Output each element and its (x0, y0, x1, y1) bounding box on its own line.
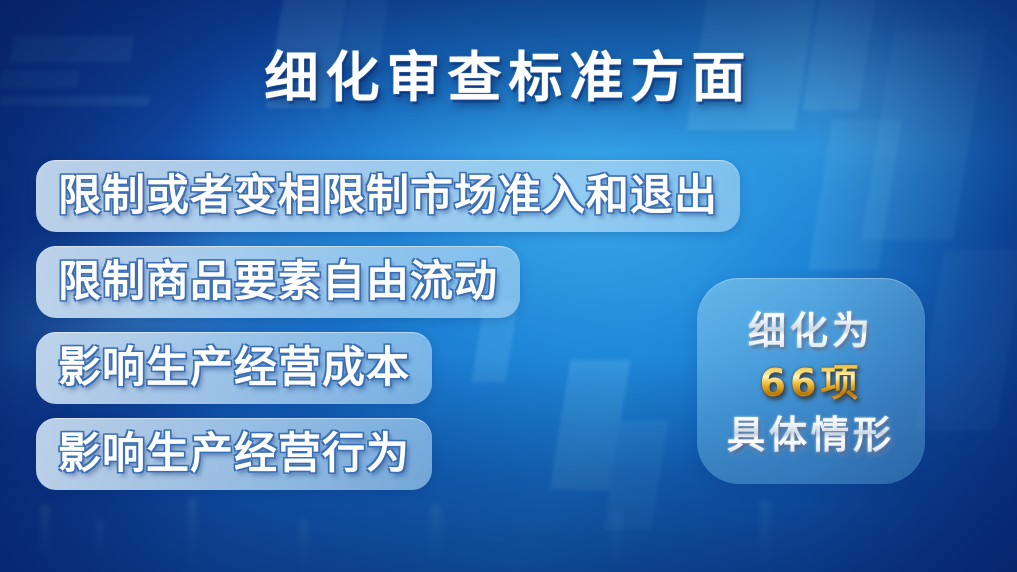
bg-block (603, 420, 668, 530)
list-item-label: 影响生产经营成本 (58, 343, 410, 393)
bg-streak (96, 520, 103, 566)
badge-line-suffix: 具体情形 (727, 410, 895, 460)
badge-line-prefix: 细化为 (748, 306, 874, 356)
bg-streak (760, 500, 770, 570)
bg-block (916, 250, 1017, 430)
list-item: 限制或者变相限制市场准入和退出 (36, 160, 740, 232)
bg-streak (612, 512, 621, 570)
list-item-label: 限制或者变相限制市场准入和退出 (58, 171, 718, 221)
list-item-label: 限制商品要素自由流动 (58, 257, 498, 307)
list-item: 影响生产经营成本 (36, 332, 432, 404)
page-title: 细化审查标准方面 (0, 46, 1017, 110)
bg-block (808, 120, 902, 270)
bg-streak (40, 505, 50, 565)
badge-count: 66项 (760, 358, 863, 408)
list-item-label: 影响生产经营行为 (58, 429, 410, 479)
list-item: 限制商品要素自由流动 (36, 246, 520, 318)
list-item: 影响生产经营行为 (36, 418, 432, 490)
slide-canvas: 细化审查标准方面 限制或者变相限制市场准入和退出 限制商品要素自由流动 影响生产… (0, 0, 1017, 572)
summary-badge: 细化为 66项 具体情形 (697, 278, 925, 484)
bg-block (550, 360, 631, 490)
bg-streak (300, 520, 308, 572)
bg-streak (430, 505, 442, 569)
bg-streak (188, 498, 197, 568)
